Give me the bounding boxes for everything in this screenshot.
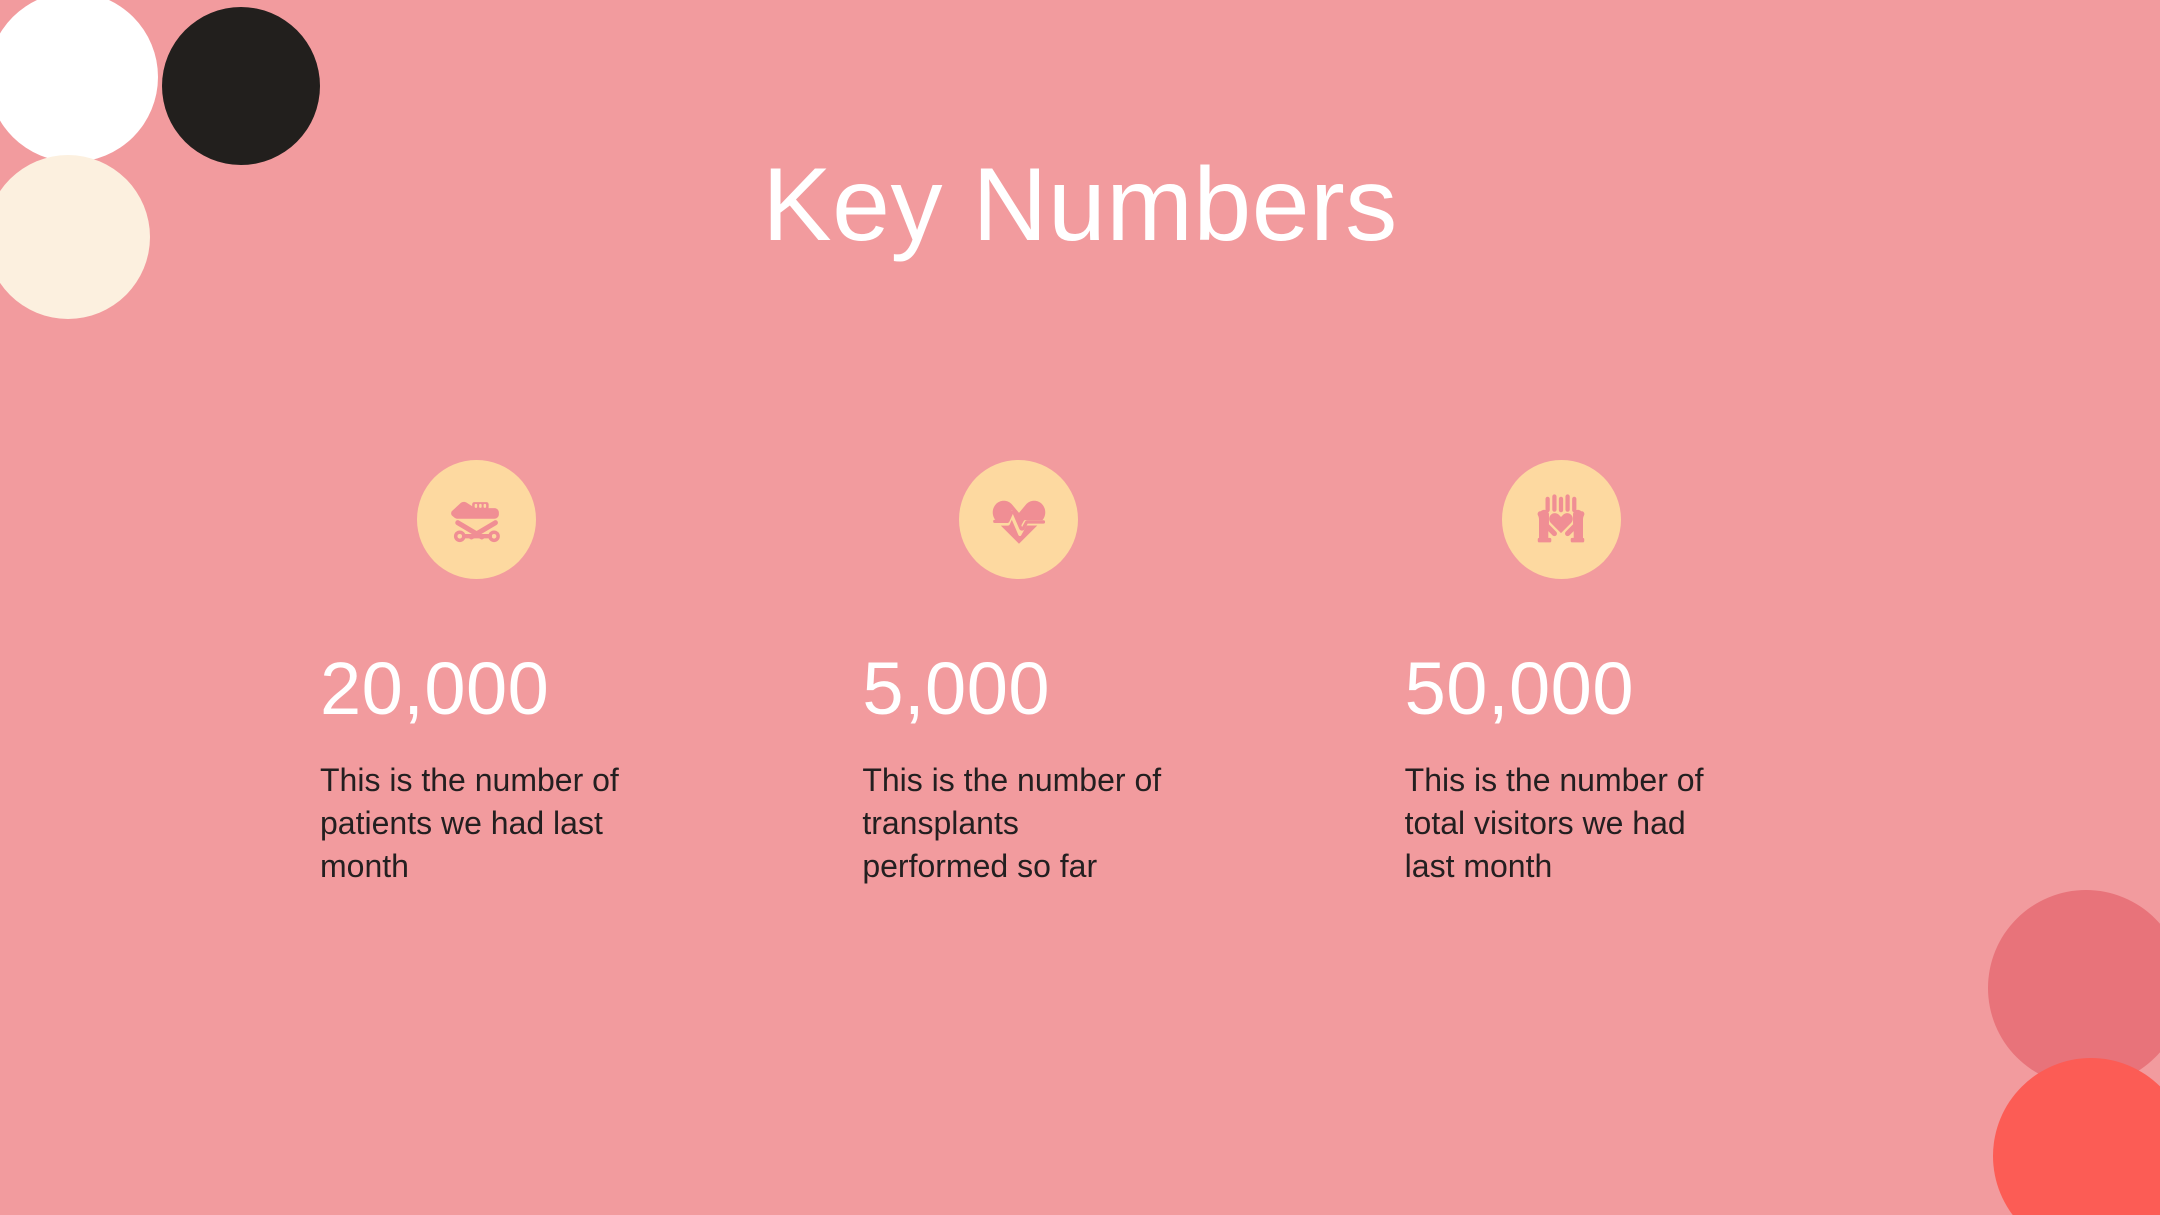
stat-number: 5,000 xyxy=(862,652,1050,726)
stat-number: 50,000 xyxy=(1405,652,1634,726)
stat-card-visitors: 50,000 This is the number of total visit… xyxy=(1405,460,1860,889)
hands-holding-heart-icon xyxy=(1502,460,1621,579)
decor-rose-circle xyxy=(1988,890,2160,1086)
stats-row: 20,000 This is the number of patients we… xyxy=(320,460,1860,889)
slide-canvas: Key Numbers xyxy=(0,0,2160,1215)
stat-description: This is the number of total visitors we … xyxy=(1405,759,1705,889)
stat-number: 20,000 xyxy=(320,652,549,726)
stat-description: This is the number of transplants perfor… xyxy=(862,759,1162,889)
stretcher-icon xyxy=(417,460,536,579)
stat-card-transplants: 5,000 This is the number of transplants … xyxy=(862,460,1317,889)
decor-white-circle xyxy=(0,0,158,162)
decor-coral-circle xyxy=(1993,1058,2160,1215)
stat-description: This is the number of patients we had la… xyxy=(320,759,620,889)
page-title: Key Numbers xyxy=(0,148,2160,262)
decor-dark-circle xyxy=(162,7,320,165)
stat-card-patients: 20,000 This is the number of patients we… xyxy=(320,460,775,889)
heartbeat-icon xyxy=(959,460,1078,579)
